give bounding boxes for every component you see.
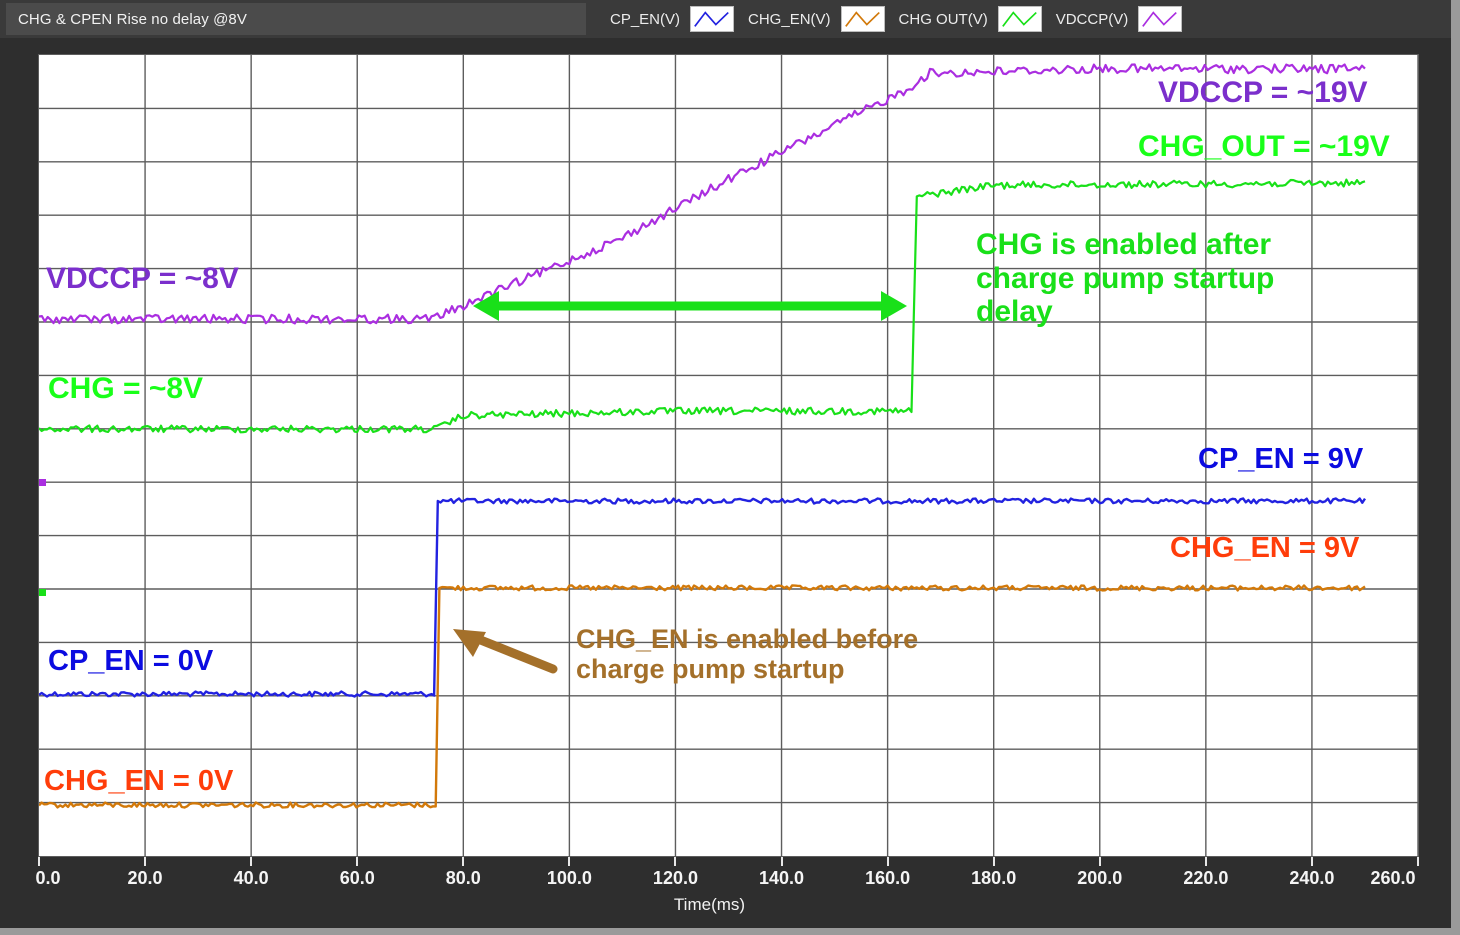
x-axis-tick	[781, 857, 783, 866]
x-axis-tick	[1099, 857, 1101, 866]
x-axis-title: Time(ms)	[0, 895, 1419, 915]
x-axis-label: 80.0	[446, 868, 481, 889]
chg-low-label: CHG = ~8V	[48, 372, 203, 406]
x-axis-tick	[38, 857, 40, 866]
x-axis-label: 220.0	[1183, 868, 1228, 889]
x-axis-tick	[356, 857, 358, 866]
legend-waveform-icon	[998, 6, 1042, 32]
oscilloscope-capture-window: CHG & CPEN Rise no delay @8V CP_EN(V)CHG…	[0, 0, 1460, 935]
legend-label: CHG OUT(V)	[885, 11, 998, 28]
x-axis-tick	[250, 857, 252, 866]
vdccp-high-label: VDCCP = ~19V	[1158, 76, 1368, 110]
legend-waveform-icon	[841, 6, 885, 32]
chgout-high-label: CHG_OUT = ~19V	[1138, 130, 1390, 164]
x-axis-label: 160.0	[865, 868, 910, 889]
x-axis-tick	[144, 857, 146, 866]
legend-label: CHG_EN(V)	[734, 11, 841, 28]
x-axis-label: 140.0	[759, 868, 804, 889]
chgen-high-label: CHG_EN = 9V	[1170, 532, 1359, 564]
vdccp-low-label: VDCCP = ~8V	[46, 262, 239, 296]
x-axis-label: 100.0	[547, 868, 592, 889]
x-axis-label: 60.0	[340, 868, 375, 889]
x-axis-label: 120.0	[653, 868, 698, 889]
x-axis-tick	[462, 857, 464, 866]
chg-delay-note: CHG is enabled after charge pump startup…	[976, 228, 1274, 329]
legend-waveform-icon	[1138, 6, 1182, 32]
x-axis-label: 40.0	[234, 868, 269, 889]
x-axis-label: 200.0	[1077, 868, 1122, 889]
chgen-low-label: CHG_EN = 0V	[44, 765, 233, 797]
cpen-high-label: CP_EN = 9V	[1198, 443, 1363, 475]
x-axis-tick	[993, 857, 995, 866]
x-axis-tick	[1311, 857, 1313, 866]
legend-label: VDCCP(V)	[1042, 11, 1139, 28]
x-axis-tick	[1417, 857, 1419, 866]
window-header: CHG & CPEN Rise no delay @8V CP_EN(V)CHG…	[0, 0, 1451, 38]
x-axis-label: 0.0	[35, 868, 60, 889]
cpen-low-label: CP_EN = 0V	[48, 645, 213, 677]
legend-item-vdccp-v-[interactable]: VDCCP(V)	[1042, 3, 1183, 35]
plot-legend: CP_EN(V)CHG_EN(V)CHG OUT(V)VDCCP(V)	[596, 3, 1447, 35]
legend-item-cp-en-v-[interactable]: CP_EN(V)	[596, 3, 734, 35]
x-axis-label: 240.0	[1289, 868, 1334, 889]
legend-waveform-icon	[690, 6, 734, 32]
x-axis-label: 260.0	[1370, 868, 1415, 889]
x-axis: 0.020.040.060.080.0100.0120.0140.0160.01…	[38, 857, 1419, 897]
x-axis-tick	[568, 857, 570, 866]
chgen-before-note: CHG_EN is enabled before charge pump sta…	[576, 624, 918, 684]
window-title: CHG & CPEN Rise no delay @8V	[6, 3, 586, 35]
legend-label: CP_EN(V)	[596, 11, 690, 28]
legend-item-chg-out-v-[interactable]: CHG OUT(V)	[885, 3, 1042, 35]
x-axis-tick	[887, 857, 889, 866]
legend-item-chg-en-v-[interactable]: CHG_EN(V)	[734, 3, 885, 35]
x-axis-label: 20.0	[128, 868, 163, 889]
x-axis-label: 180.0	[971, 868, 1016, 889]
x-axis-tick	[674, 857, 676, 866]
x-axis-tick	[1205, 857, 1207, 866]
